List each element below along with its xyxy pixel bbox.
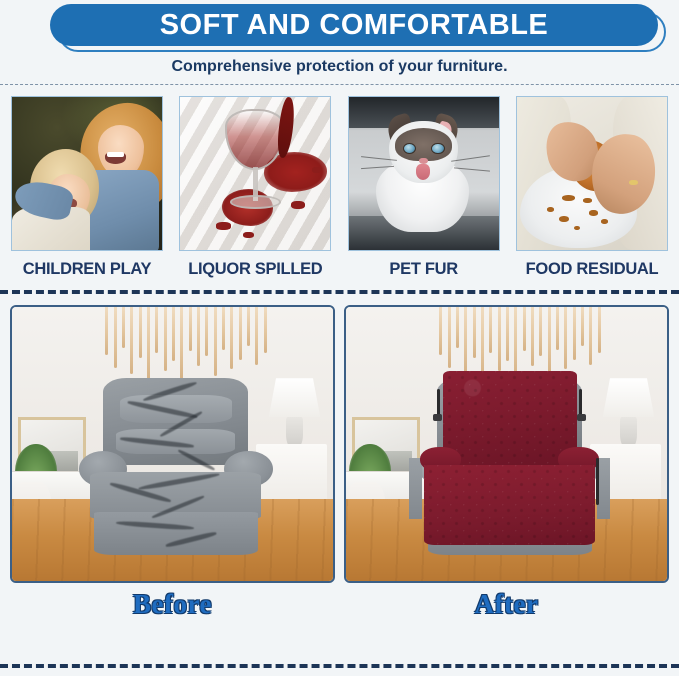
- feature-row: CHILDREN PLAY LIQUOR SPILLED: [0, 96, 679, 281]
- children-play-image: [11, 96, 163, 251]
- banner-title: SOFT AND COMFORTABLE: [160, 9, 549, 42]
- after-image-frame: [344, 305, 669, 583]
- before-image-frame: [10, 305, 335, 583]
- header-subtitle: Comprehensive protection of your furnitu…: [0, 58, 679, 76]
- banner-fill-shape: SOFT AND COMFORTABLE: [50, 4, 658, 46]
- feature-label: LIQUOR SPILLED: [188, 260, 322, 279]
- divider-bottom: [0, 664, 679, 668]
- feature-item: LIQUOR SPILLED: [176, 96, 334, 281]
- feature-label: PET FUR: [389, 260, 457, 279]
- before-caption: Before: [133, 589, 212, 620]
- header-banner: SOFT AND COMFORTABLE: [0, 2, 679, 54]
- comparison-cell-after: After: [344, 305, 669, 620]
- before-after-row: Before: [0, 305, 679, 620]
- comparison-cell-before: Before: [10, 305, 335, 620]
- product-infographic: SOFT AND COMFORTABLE Comprehensive prote…: [0, 0, 679, 676]
- feature-item: PET FUR: [345, 96, 503, 281]
- after-caption: After: [475, 589, 539, 620]
- feature-label: CHILDREN PLAY: [23, 260, 151, 279]
- feature-label: FOOD RESIDUAL: [526, 260, 659, 279]
- pet-fur-image: [348, 96, 500, 251]
- liquor-spilled-image: [179, 96, 331, 251]
- food-residual-image: [516, 96, 668, 251]
- feature-item: FOOD RESIDUAL: [513, 96, 671, 281]
- macrame-decor: [102, 307, 269, 389]
- divider-top: [0, 84, 679, 85]
- feature-item: CHILDREN PLAY: [8, 96, 166, 281]
- divider-middle: [0, 290, 679, 294]
- recliner-chair-dirty: [83, 378, 269, 559]
- recliner-chair-covered: [417, 378, 603, 559]
